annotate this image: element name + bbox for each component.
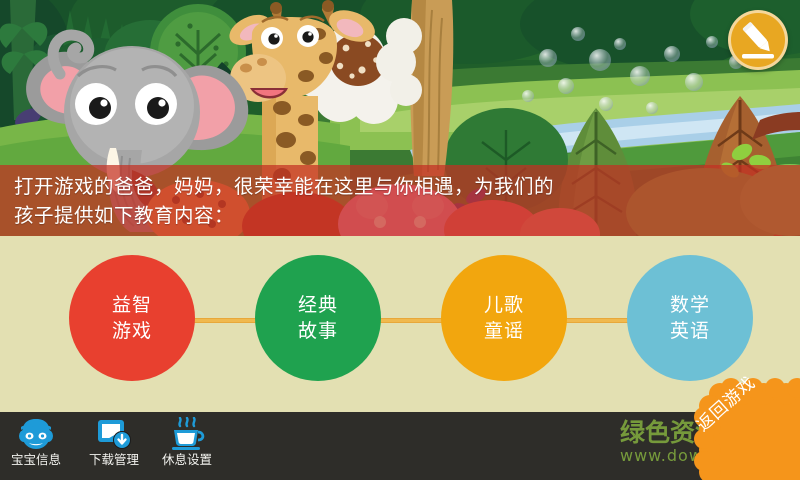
download-icon bbox=[96, 416, 132, 452]
banner-line-1: 打开游戏的爸爸，妈妈，很荣幸能在这里与你相遇，为我们的 bbox=[14, 172, 786, 201]
connector-line-1 bbox=[185, 318, 265, 323]
category-label-line1: 数学 bbox=[670, 292, 710, 318]
category-label-line1: 益智 bbox=[112, 292, 152, 318]
hero-illustration: 打开游戏的爸爸，妈妈，很荣幸能在这里与你相遇，为我们的 孩子提供如下教育内容： bbox=[0, 0, 800, 236]
baby-face-icon bbox=[16, 416, 56, 452]
category-label-line1: 经典 bbox=[298, 292, 338, 318]
category-label-line1: 儿歌 bbox=[484, 292, 524, 318]
category-label-line2: 英语 bbox=[670, 318, 710, 344]
category-label-line2: 游戏 bbox=[112, 318, 152, 344]
toolbar-item-baby-info[interactable]: 宝宝信息 bbox=[0, 416, 72, 476]
return-to-game-button[interactable]: 返回游戏 bbox=[680, 370, 800, 480]
category-math-english[interactable]: 数学 英语 bbox=[627, 255, 753, 381]
category-nursery-rhymes[interactable]: 儿歌 童谣 bbox=[441, 255, 567, 381]
toolbar-label: 下载管理 bbox=[89, 453, 139, 467]
toolbar-item-download-manager[interactable]: 下载管理 bbox=[78, 416, 150, 476]
category-label-line2: 童谣 bbox=[484, 318, 524, 344]
banner-line-2: 孩子提供如下教育内容： bbox=[14, 201, 786, 230]
category-label-line2: 故事 bbox=[298, 318, 338, 344]
toolbar-item-rest-settings[interactable]: 休息设置 bbox=[151, 416, 223, 476]
app-root: 打开游戏的爸爸，妈妈，很荣幸能在这里与你相遇，为我们的 孩子提供如下教育内容： … bbox=[0, 0, 800, 480]
category-classic-stories[interactable]: 经典 故事 bbox=[255, 255, 381, 381]
toolbar-label: 休息设置 bbox=[162, 453, 212, 467]
connector-line-2 bbox=[371, 318, 451, 323]
parent-message-banner: 打开游戏的爸爸，妈妈，很荣幸能在这里与你相遇，为我们的 孩子提供如下教育内容： bbox=[0, 165, 800, 236]
edit-button[interactable] bbox=[728, 10, 788, 70]
coffee-cup-icon bbox=[167, 416, 207, 452]
toolbar-label: 宝宝信息 bbox=[11, 453, 61, 467]
connector-line-3 bbox=[557, 318, 637, 323]
pencil-icon bbox=[731, 13, 785, 67]
category-puzzle-games[interactable]: 益智 游戏 bbox=[69, 255, 195, 381]
